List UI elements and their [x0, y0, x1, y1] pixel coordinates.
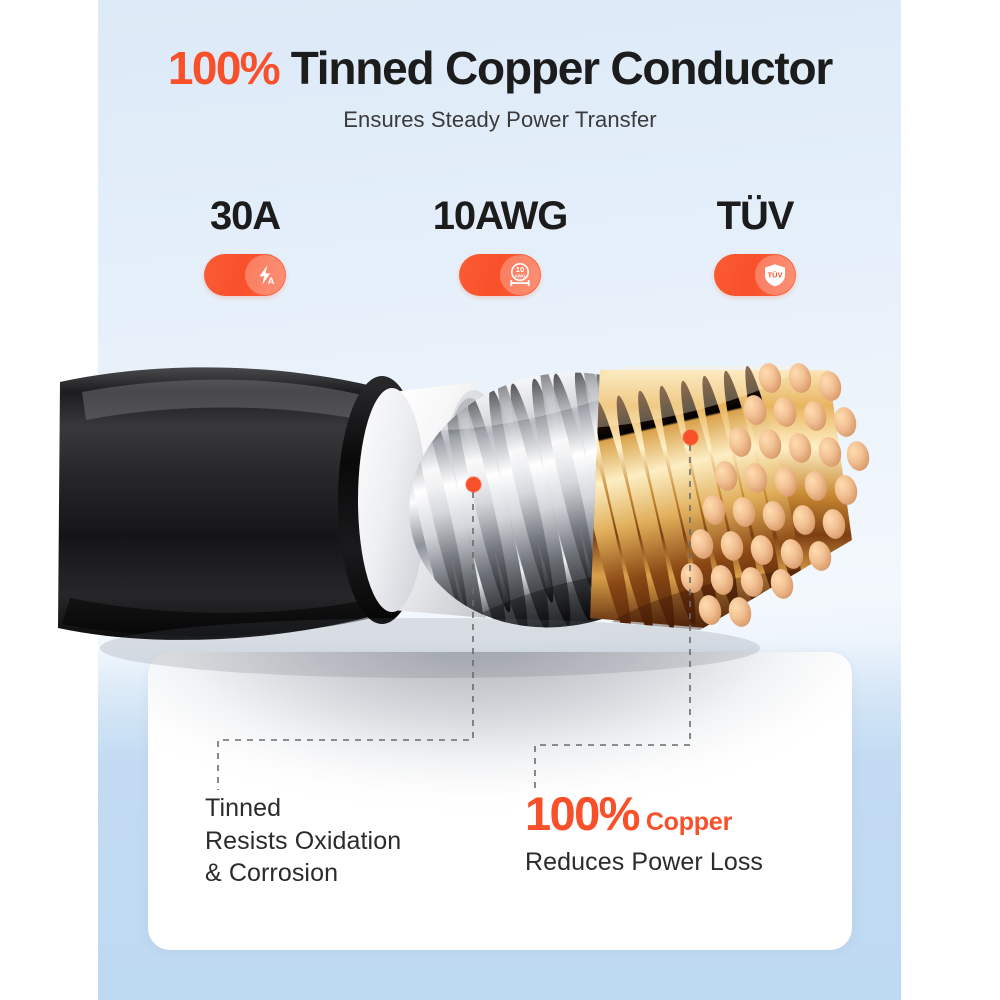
page-subtitle: Ensures Steady Power Transfer — [0, 93, 1000, 133]
callout-line: Tinned — [205, 792, 401, 825]
svg-text:A: A — [268, 276, 275, 287]
svg-text:AWG: AWG — [515, 273, 526, 278]
title-highlight: 100% — [168, 42, 279, 94]
cable-cutaway-illustration — [0, 330, 1000, 690]
tinned-callout: Tinned Resists Oxidation & Corrosion — [205, 792, 401, 890]
infographic-stage: 100% Tinned Copper Conductor Ensures Ste… — [0, 0, 1000, 1000]
wire-gauge-10awg-icon: 10 AWG — [500, 255, 540, 295]
spec-badge-row: 30A A 10AWG 10 AWG — [150, 196, 850, 296]
spec-pill: 10 AWG — [459, 254, 541, 296]
lightning-bolt-amp-icon: A — [245, 255, 285, 295]
callout-line: Reduces Power Loss — [525, 846, 763, 879]
page-title: 100% Tinned Copper Conductor — [0, 0, 1000, 93]
callout-line: & Corrosion — [205, 857, 401, 890]
spec-pill: TÜV — [714, 254, 796, 296]
copper-callout: 100% Copper Reduces Power Loss — [525, 790, 763, 879]
tuv-shield-icon: TÜV — [755, 255, 795, 295]
svg-text:TÜV: TÜV — [768, 271, 783, 280]
tinned-braid-marker — [466, 477, 481, 492]
spec-pill: A — [204, 254, 286, 296]
spec-label: 30A — [210, 196, 280, 236]
header: 100% Tinned Copper Conductor Ensures Ste… — [0, 0, 1000, 133]
spec-label: TÜV — [717, 196, 794, 236]
callout-hero: 100% Copper — [525, 790, 763, 837]
copper-strand-marker — [683, 430, 698, 445]
callout-hero-big: 100% — [525, 790, 639, 837]
callout-hero-small: Copper — [646, 808, 732, 837]
callout-line: Resists Oxidation — [205, 825, 401, 858]
spec-label: 10AWG — [433, 196, 568, 236]
spec-badge-10awg: 10AWG 10 AWG — [405, 196, 595, 296]
title-rest: Tinned Copper Conductor — [291, 42, 832, 94]
spec-badge-tuv: TÜV TÜV — [660, 196, 850, 296]
spec-badge-30a: 30A A — [150, 196, 340, 296]
